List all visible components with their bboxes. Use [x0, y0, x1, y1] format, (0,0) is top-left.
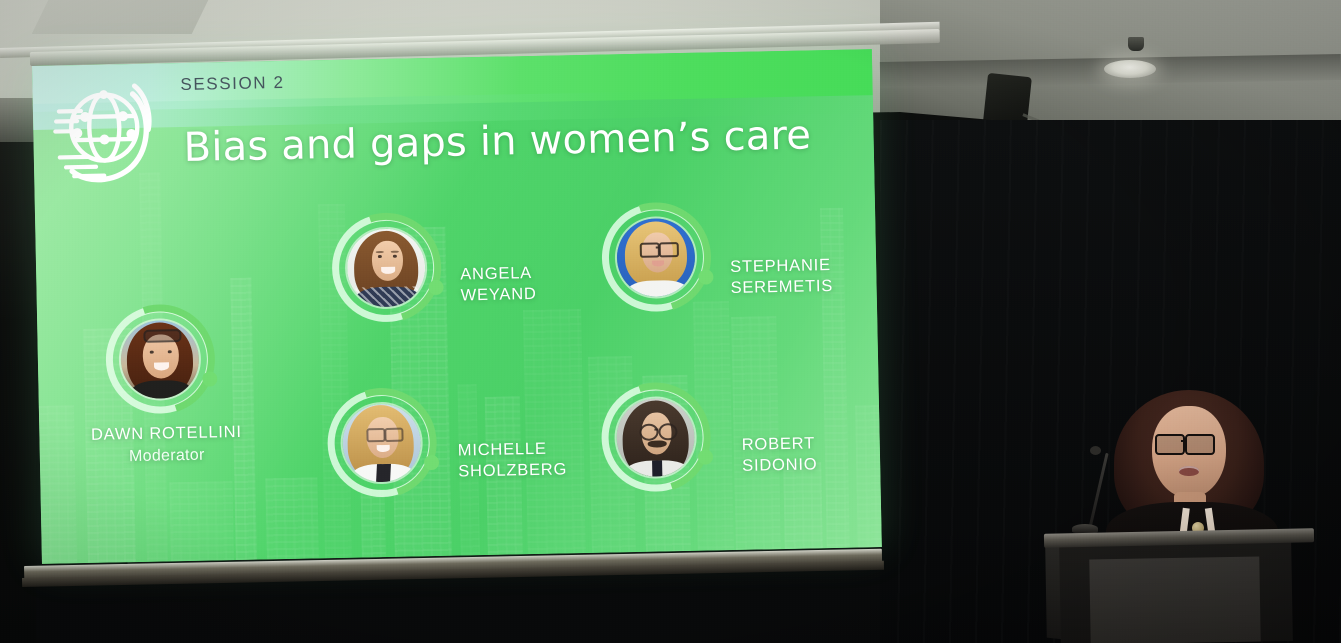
speaker-name: ROBERT SIDONIO [742, 432, 882, 477]
avatar-ring [105, 304, 215, 414]
speaker-dawn-rotellini: DAWN ROTELLINI Moderator [105, 304, 215, 414]
presenter-glasses-right [1185, 434, 1215, 455]
microphone-base [1072, 524, 1098, 533]
speaker-name: STEPHANIE SEREMETIS [730, 254, 882, 299]
speaker-name: ANGELA WEYAND [460, 262, 601, 307]
avatar-ring-accent-arc [312, 194, 460, 342]
ceiling-tile [32, 0, 209, 34]
avatar-ring [601, 202, 711, 312]
speaker-angela-weyand: ANGELA WEYAND [331, 213, 441, 323]
avatar-ring [601, 382, 711, 492]
speaker-name: MICHELLE SHOLZBERG [458, 437, 619, 482]
speaker-michelle-sholzberg: MICHELLE SHOLZBERG [327, 388, 437, 498]
downlight-icon [1104, 60, 1156, 78]
left-wall [0, 112, 36, 643]
speaker-stephanie-seremetis: STEPHANIE SEREMETIS [601, 202, 711, 312]
speaker-robert-sidonio: ROBERT SIDONIO [601, 382, 711, 492]
avatar-ring-accent-arc [582, 184, 730, 332]
sprinkler-icon [1128, 37, 1144, 51]
globe-network-logo [46, 72, 154, 192]
presenter-glasses-bridge [1181, 440, 1186, 442]
microphone-head-icon [1090, 446, 1101, 455]
avatar-ring-accent-arc [582, 364, 730, 512]
presenter-glasses-left [1155, 434, 1185, 455]
avatar-ring [327, 388, 437, 498]
presentation-slide: SESSION 2 Bias and gaps in women’s care [32, 49, 882, 564]
speaker-name: DAWN ROTELLINI [61, 421, 271, 446]
podium-front-panel [1089, 557, 1260, 643]
conference-photo-scene: SESSION 2 Bias and gaps in women’s care [0, 0, 1341, 643]
presenter-person [1100, 390, 1290, 550]
projection-screen: SESSION 2 Bias and gaps in women’s care [32, 49, 882, 564]
avatar-ring-accent-arc [308, 369, 456, 517]
avatar-ring [331, 213, 441, 323]
session-label: SESSION 2 [180, 73, 285, 95]
avatar-ring-accent-arc [86, 286, 234, 434]
left-wall-strip [0, 98, 34, 142]
presenter-mouth [1179, 466, 1199, 476]
